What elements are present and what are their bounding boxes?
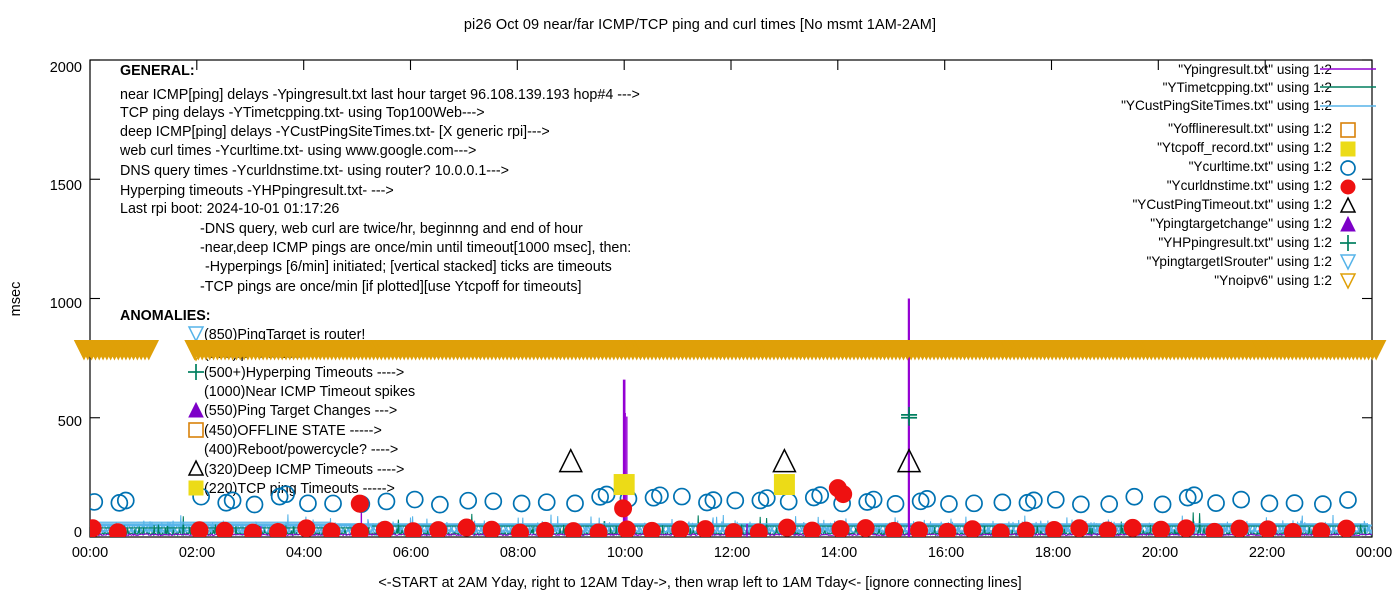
anomaly-marker-filled-triangle-up (189, 403, 203, 417)
chart-container: pi26 Oct 09 near/far ICMP/TCP ping and c… (0, 0, 1400, 600)
series-yhppingresult (901, 407, 917, 426)
series-ycurltime (86, 486, 1356, 512)
legend-marker-plus (1340, 235, 1356, 251)
legend-marker-filled-triangle-up (1341, 217, 1355, 231)
legend-marker-open-triangle-down (1341, 255, 1355, 269)
legend-marker-open-triangle-up (1341, 198, 1355, 212)
legend-marker-open-square (1341, 123, 1355, 137)
anomaly-marker-filled-square (189, 481, 203, 495)
anomaly-marker-plus (188, 364, 204, 380)
plot-frame (90, 60, 1372, 537)
anomaly-marker-open-square (189, 423, 203, 437)
series-ynoipv6 (75, 341, 1385, 359)
legend-marker-filled-circle (1341, 180, 1355, 194)
series-ycustpingtimeout (560, 450, 920, 472)
x-axis-ticks (90, 60, 1372, 537)
legend-marker-open-triangle-down (1341, 274, 1355, 288)
legend-marker-filled-square (1341, 142, 1355, 156)
anomaly-marker-open-triangle-down (189, 327, 203, 341)
y-axis-ticks (90, 60, 1372, 537)
legend-marker-open-circle (1341, 161, 1355, 175)
series-layer (84, 299, 1375, 542)
series-ytcpoff (614, 475, 794, 495)
anomaly-marker-open-triangle-up (189, 461, 203, 475)
legend-markers (1320, 69, 1376, 288)
plot-canvas (0, 0, 1400, 600)
